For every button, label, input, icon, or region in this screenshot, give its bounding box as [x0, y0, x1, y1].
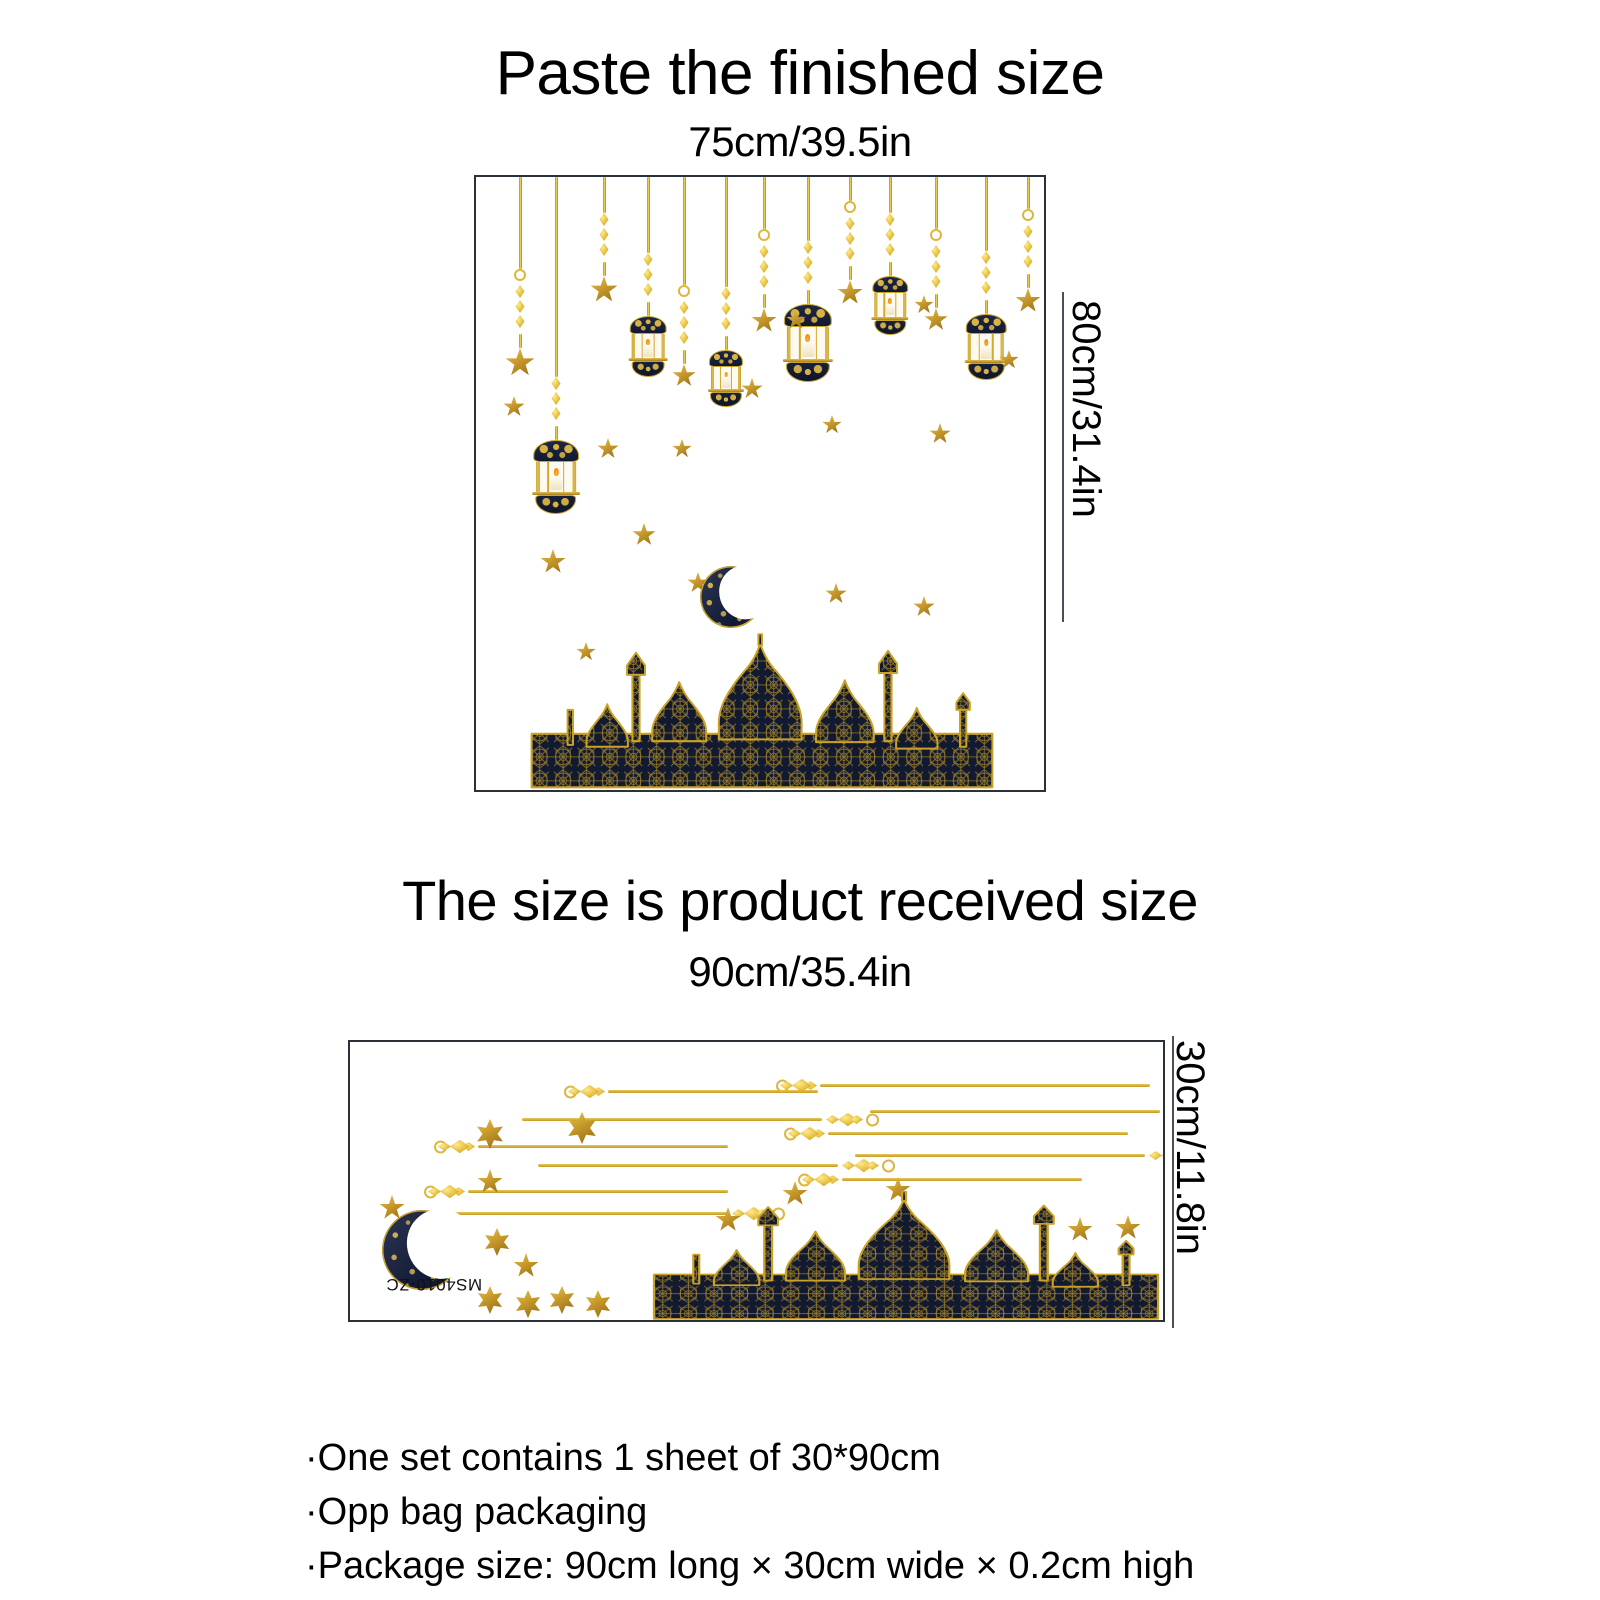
lantern-candle	[721, 377, 730, 388]
lantern-body	[1011, 1158, 1031, 1185]
lantern-body	[787, 327, 830, 358]
chain-bead	[886, 243, 895, 256]
hanging-chain	[849, 177, 852, 201]
chain-ring	[866, 1113, 879, 1126]
finished-size-width-label: 75cm/39.5in	[0, 118, 1600, 166]
chain-bead	[804, 271, 813, 284]
lantern-plate	[506, 1079, 509, 1110]
chain-bead	[552, 392, 561, 405]
lantern-icon	[871, 276, 908, 335]
hanging-chain	[807, 177, 810, 241]
chain-line	[478, 1145, 728, 1148]
chain-bead	[552, 407, 561, 420]
chain-bead	[846, 232, 855, 245]
hanging-chain	[603, 177, 606, 213]
hanging-chain	[985, 300, 988, 314]
hanging-chain	[763, 294, 766, 308]
lantern-base	[786, 362, 830, 382]
chain-bead	[552, 377, 561, 390]
chain-ring	[1022, 209, 1034, 221]
chain-bead	[1161, 1149, 1165, 1163]
chain-bead	[722, 302, 731, 315]
chain-bead	[644, 283, 653, 296]
candle-flame-icon	[724, 372, 728, 378]
lantern-base	[535, 495, 576, 514]
lantern-base	[391, 1134, 407, 1169]
hanging-chain	[647, 177, 650, 253]
chain-ring	[678, 285, 690, 297]
lantern-body	[874, 293, 906, 316]
hanging-chain	[935, 177, 938, 229]
chain-bead	[886, 228, 895, 241]
candle-flame-icon	[646, 339, 650, 345]
finished-size-title: Paste the finished size	[0, 38, 1600, 109]
hanging-chain	[725, 336, 728, 350]
chain-ring	[844, 201, 856, 213]
chain-bead	[800, 1127, 820, 1141]
lantern-dome	[966, 314, 1007, 334]
hanging-chain	[519, 177, 522, 269]
hanging-chain	[683, 177, 686, 285]
mosque-silhouette	[650, 1184, 1162, 1322]
lantern-dome	[435, 1079, 454, 1117]
hanging-chain	[683, 350, 686, 364]
chain-bead	[1024, 225, 1033, 238]
lantern-body	[1096, 1158, 1116, 1185]
candle-flame-icon	[984, 339, 988, 346]
lantern-plate	[563, 1221, 566, 1260]
finished-size-preview-panel	[474, 175, 1046, 792]
star-icon	[924, 308, 948, 332]
received-size-width-label: 90cm/35.4in	[0, 948, 1600, 996]
lantern-icon	[965, 314, 1008, 380]
star-icon	[914, 295, 934, 315]
lantern-base	[968, 363, 1005, 380]
chain-bead	[516, 285, 525, 298]
star-icon	[503, 396, 525, 418]
star-icon	[548, 1286, 576, 1314]
lantern-body	[410, 1134, 435, 1168]
lantern-base	[1080, 1158, 1093, 1186]
chain-ring	[514, 269, 526, 281]
star-icon	[1015, 288, 1041, 314]
finished-size-height-label: 80cm/31.4in	[1063, 300, 1108, 518]
chain-bead	[680, 316, 689, 329]
lantern-body	[536, 462, 576, 492]
mosque-silhouette	[528, 625, 996, 791]
lantern-body	[632, 334, 665, 358]
hanging-chain	[603, 262, 606, 276]
lantern-candle	[981, 345, 992, 358]
star-icon	[825, 583, 847, 605]
lantern-candle	[422, 1134, 434, 1144]
received-size-height-label: 30cm/11.8in	[1167, 1040, 1212, 1255]
star-icon	[584, 1290, 612, 1318]
lantern-body	[968, 334, 1004, 360]
product-code-label: MS4010-ZC	[386, 1274, 482, 1294]
lantern-base	[493, 1079, 505, 1106]
lantern-dome	[784, 304, 832, 327]
lantern-candle	[550, 475, 562, 490]
chain-bead	[932, 275, 941, 288]
chain-ring	[930, 229, 942, 241]
lantern-base	[391, 1079, 407, 1114]
chain-bead	[932, 245, 941, 258]
star-icon	[514, 1290, 542, 1318]
chain-bead	[982, 281, 991, 294]
hanging-chain	[763, 177, 766, 229]
chain-bead	[760, 275, 769, 288]
hanging-chain	[519, 334, 522, 348]
lantern-plate	[407, 1134, 410, 1174]
star-icon	[632, 523, 656, 547]
star-icon	[513, 1253, 539, 1279]
chain-bead	[580, 1085, 600, 1099]
chain-bead	[1024, 240, 1033, 253]
star-icon	[672, 439, 692, 459]
lantern-dome	[590, 1221, 608, 1258]
lantern-icon	[629, 316, 668, 377]
chain-bead	[982, 251, 991, 264]
star-icon	[913, 596, 935, 618]
package-notes-list: ·One set contains 1 sheet of 30*90cm·Opp…	[305, 1432, 1194, 1594]
star-icon	[566, 1112, 598, 1144]
lantern-icon	[783, 304, 833, 382]
lantern-dome	[533, 440, 579, 462]
lantern-body	[509, 1079, 528, 1105]
mosque-silhouette-svg	[650, 1184, 1162, 1322]
chain-bead	[804, 241, 813, 254]
lantern-dome	[435, 1134, 454, 1172]
chain-line	[870, 1110, 1160, 1113]
chain-bead	[846, 217, 855, 230]
lantern-candle	[643, 345, 653, 357]
lantern-base	[874, 320, 906, 335]
chain-line	[855, 1154, 1145, 1157]
star-icon	[822, 415, 842, 435]
chain-bead	[1164, 1107, 1165, 1116]
lantern-candle	[802, 341, 815, 357]
chain-bead	[1024, 255, 1033, 268]
chain-line	[820, 1084, 1150, 1087]
candle-flame-icon	[554, 468, 559, 475]
chain-bead	[804, 256, 813, 269]
chain-bead	[886, 213, 895, 226]
hanging-chain	[1027, 274, 1030, 288]
hanging-chain	[935, 294, 938, 308]
lantern-candle	[1106, 1158, 1116, 1166]
chain-bead	[516, 300, 525, 313]
hanging-chain	[807, 290, 810, 304]
chain-line	[828, 1132, 1128, 1135]
package-note-1: ·One set contains 1 sheet of 30*90cm	[305, 1432, 1194, 1486]
lantern-body	[410, 1079, 435, 1113]
hanging-chain	[647, 302, 650, 316]
chain-bead	[826, 1115, 839, 1124]
star-icon	[505, 348, 535, 378]
chain-bead	[842, 1161, 855, 1170]
chain-bead	[644, 253, 653, 266]
star-icon	[540, 549, 566, 575]
chain-bead	[1149, 1151, 1162, 1160]
chain-bead	[600, 243, 609, 256]
lantern-dome	[709, 350, 744, 367]
hanging-chain	[889, 262, 892, 276]
chain-ring	[882, 1159, 895, 1172]
lantern-icon	[708, 350, 744, 407]
package-note-2: ·Opp bag packaging	[305, 1486, 1194, 1540]
lantern-icon	[493, 1079, 542, 1110]
lantern-icon	[532, 440, 580, 514]
star-icon	[597, 438, 619, 460]
lantern-candle	[885, 304, 894, 316]
mosque-silhouette-svg	[528, 625, 996, 791]
lantern-candle	[1021, 1158, 1031, 1166]
hanging-chain	[555, 426, 558, 440]
chain-bead	[932, 260, 941, 273]
lantern-dome	[528, 1079, 542, 1109]
chain-bead	[722, 287, 731, 300]
lantern-base	[631, 361, 664, 377]
star-icon	[751, 308, 777, 334]
star-icon	[590, 276, 618, 304]
chain-bead	[680, 331, 689, 344]
candle-flame-icon	[888, 298, 892, 304]
chain-bead	[644, 268, 653, 281]
sticker-sheet-panel: MS4010-ZC	[348, 1040, 1165, 1322]
chain-bead	[600, 228, 609, 241]
lantern-body	[711, 367, 742, 389]
lantern-candle	[578, 1221, 590, 1231]
lantern-plate	[407, 1079, 410, 1119]
chain-bead	[440, 1185, 460, 1199]
lantern-base	[548, 1221, 564, 1254]
received-size-title: The size is product received size	[0, 868, 1600, 933]
chain-line	[842, 1178, 1082, 1181]
hanging-chain	[1027, 177, 1030, 209]
lantern-base	[995, 1158, 1008, 1186]
star-icon	[483, 1228, 511, 1256]
chain-bead	[760, 260, 769, 273]
star-icon	[929, 423, 951, 445]
chain-bead	[516, 315, 525, 328]
star-icon	[672, 364, 696, 388]
hanging-chain	[555, 177, 558, 377]
lantern-dome	[872, 276, 908, 293]
lantern-dome	[629, 316, 666, 334]
chain-bead	[846, 247, 855, 260]
package-note-3: ·Package size: 90cm long × 30cm wide × 0…	[305, 1540, 1194, 1594]
hanging-chain	[725, 177, 728, 287]
hanging-chain	[985, 177, 988, 251]
star-icon	[741, 378, 763, 400]
lantern-icon	[391, 1079, 454, 1119]
lantern-candle	[519, 1079, 529, 1087]
lantern-base	[710, 392, 741, 407]
lantern-candle	[422, 1079, 434, 1089]
lantern-body	[566, 1221, 590, 1254]
infographic-page: Paste the finished size 75cm/39.5in 80cm…	[0, 0, 1600, 1600]
chain-bead	[722, 317, 731, 330]
candle-flame-icon	[805, 334, 810, 342]
star-icon	[837, 280, 863, 306]
hanging-chain	[849, 266, 852, 280]
chain-bead	[982, 266, 991, 279]
lantern-icon	[548, 1221, 609, 1260]
chain-line	[522, 1118, 822, 1121]
hanging-chain	[889, 177, 892, 213]
chain-bead	[680, 301, 689, 314]
chain-line	[538, 1164, 838, 1167]
chain-bead	[760, 245, 769, 258]
chain-bead	[600, 213, 609, 226]
lantern-icon	[391, 1134, 454, 1174]
chain-ring	[758, 229, 770, 241]
